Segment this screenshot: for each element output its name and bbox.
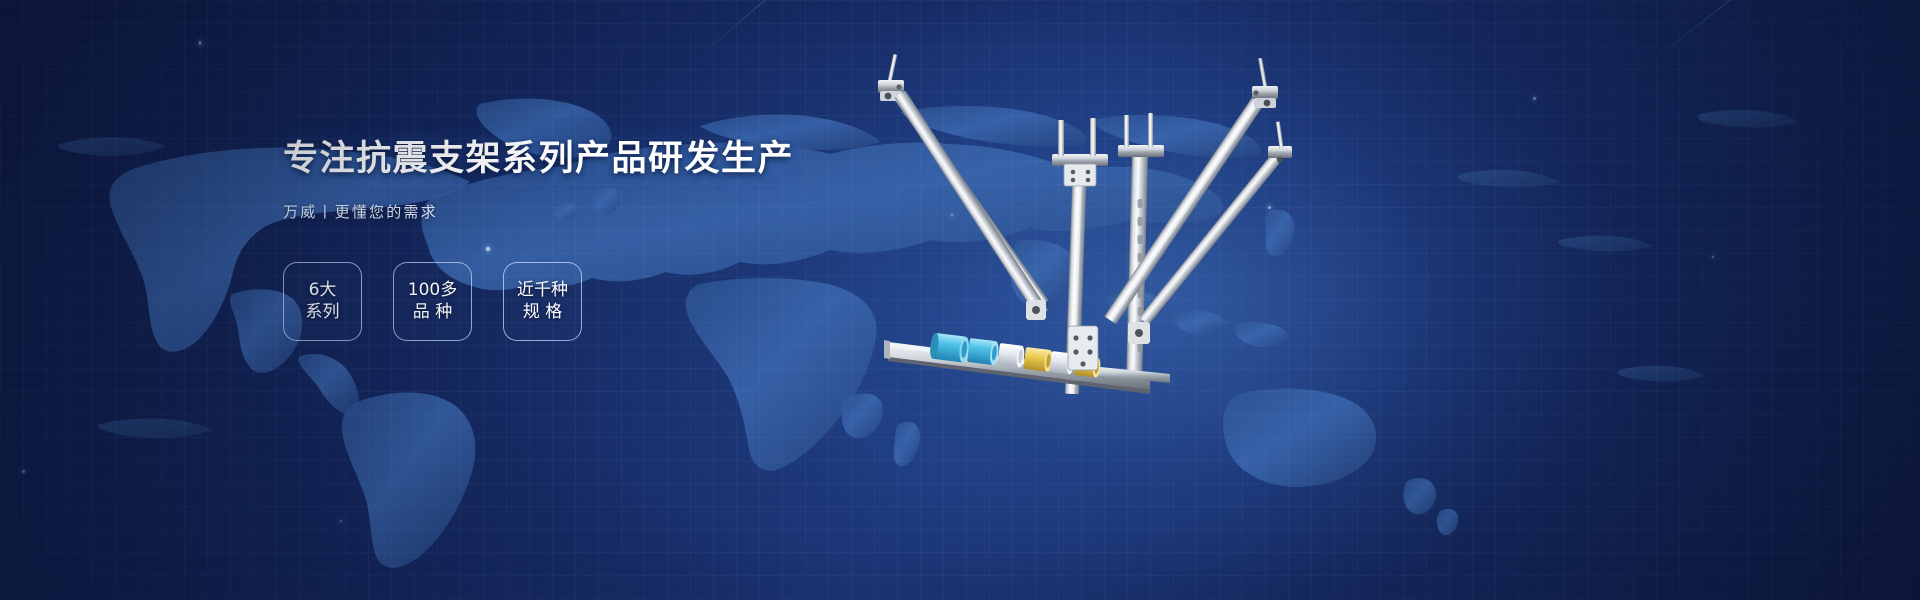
brace-left-long xyxy=(895,90,1049,317)
banner-copy: 专注抗震支架系列产品研发生产 万威丨更懂您的需求 6大 系列 100多 品 种 … xyxy=(283,140,803,341)
badge-specifications-line2: 规 格 xyxy=(523,301,562,323)
joint-base-left xyxy=(1026,300,1046,320)
star-dot xyxy=(1712,256,1714,258)
badge-specifications-line1: 近千种 xyxy=(517,279,568,301)
badge-varieties-line2: 品 种 xyxy=(413,301,452,323)
pipe-blue-1 xyxy=(929,333,970,363)
hero-banner: 专注抗震支架系列产品研发生产 万威丨更懂您的需求 6大 系列 100多 品 种 … xyxy=(0,0,1920,600)
star-dot xyxy=(1533,97,1536,100)
light-streak-1 xyxy=(700,0,859,57)
badge-series-line1: 6大 xyxy=(309,279,337,301)
badge-group: 6大 系列 100多 品 种 近千种 规 格 xyxy=(283,262,803,341)
badge-specifications[interactable]: 近千种 规 格 xyxy=(503,262,582,341)
banner-subtitle: 万威丨更懂您的需求 xyxy=(283,201,803,222)
pipe-white-1 xyxy=(997,343,1025,368)
page-title: 专注抗震支架系列产品研发生产 xyxy=(283,140,803,179)
badge-varieties[interactable]: 100多 品 种 xyxy=(393,262,472,341)
product-image xyxy=(840,50,1340,420)
joint-base-center xyxy=(1068,326,1098,370)
joint-base-right xyxy=(1128,322,1150,344)
badge-series[interactable]: 6大 系列 xyxy=(283,262,362,341)
badge-varieties-line1: 100多 xyxy=(408,279,457,301)
badge-series-line2: 系列 xyxy=(306,301,340,323)
star-dot xyxy=(199,41,201,45)
star-dot xyxy=(340,520,342,522)
star-dot xyxy=(22,470,25,473)
pipe-yellow-1 xyxy=(1023,347,1053,372)
pipe-blue-2 xyxy=(967,338,1000,365)
light-streak-3 xyxy=(1640,0,1735,71)
light-streak-2 xyxy=(905,0,1032,11)
